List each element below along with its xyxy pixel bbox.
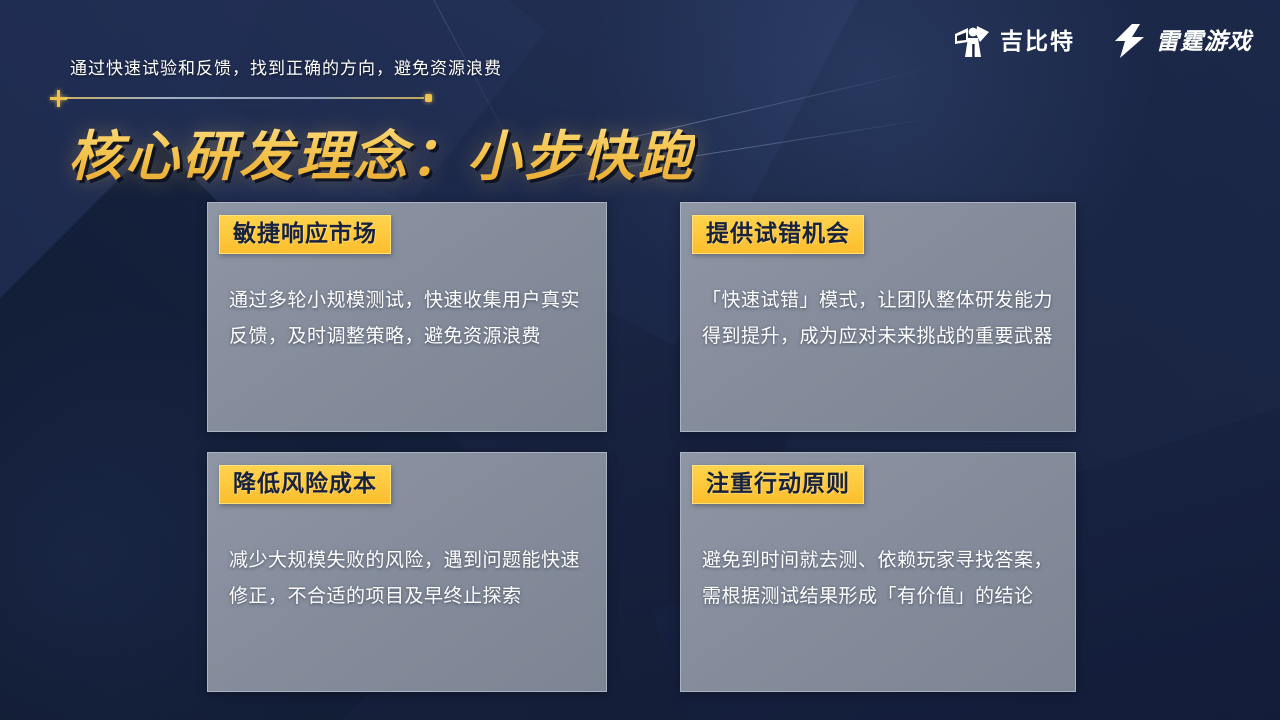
slide-root: 吉比特 雷霆游戏 通过快速试验和反馈，找到正确的方向，避免资源浪费 核心研发理念… (0, 0, 1280, 720)
gbits-logo: 吉比特 (955, 24, 1075, 58)
card-body-text: 减少大规模失败的风险，遇到问题能快速修正，不合适的项目及早终止探索 (229, 543, 590, 614)
figure-icon (955, 24, 991, 58)
card-action-principles[interactable]: 注重行动原则 避免到时间就去测、依赖玩家寻找答案，需根据测试结果形成「有价值」的… (680, 452, 1076, 692)
divider-line (64, 97, 424, 99)
thunder-games-logo: 雷霆游戏 (1111, 24, 1252, 58)
card-title-badge: 敏捷响应市场 (219, 215, 391, 254)
card-title-badge: 注重行动原则 (692, 465, 864, 504)
page-title: 核心研发理念：小步快跑 (68, 112, 695, 191)
card-title-badge: 提供试错机会 (692, 215, 864, 254)
card-lower-risk-cost[interactable]: 降低风险成本 减少大规模失败的风险，遇到问题能快速修正，不合适的项目及早终止探索 (207, 452, 607, 692)
divider-end-dot-icon (425, 94, 432, 102)
card-body-text: 「快速试错」模式，让团队整体研发能力得到提升，成为应对未来挑战的重要武器 (702, 283, 1059, 354)
thunder-games-logo-text: 雷霆游戏 (1156, 30, 1252, 53)
slide-subtitle: 通过快速试验和反馈，找到正确的方向，避免资源浪费 (70, 54, 502, 79)
card-agile-market-response[interactable]: 敏捷响应市场 通过多轮小规模测试，快速收集用户真实反馈，及时调整策略，避免资源浪… (207, 202, 607, 432)
card-title-badge: 降低风险成本 (219, 465, 391, 504)
title-divider (50, 90, 432, 106)
logo-group: 吉比特 雷霆游戏 (955, 24, 1252, 58)
card-body-text: 通过多轮小规模测试，快速收集用户真实反馈，及时调整策略，避免资源浪费 (229, 283, 590, 354)
gbits-logo-text: 吉比特 (1000, 30, 1075, 53)
card-body-text: 避免到时间就去测、依赖玩家寻找答案，需根据测试结果形成「有价值」的结论 (702, 543, 1059, 614)
card-trial-and-error-opportunity[interactable]: 提供试错机会 「快速试错」模式，让团队整体研发能力得到提升，成为应对未来挑战的重… (680, 202, 1076, 432)
lightning-bolt-icon (1111, 24, 1147, 58)
card-grid: 敏捷响应市场 通过多轮小规模测试，快速收集用户真实反馈，及时调整策略，避免资源浪… (207, 202, 1076, 692)
